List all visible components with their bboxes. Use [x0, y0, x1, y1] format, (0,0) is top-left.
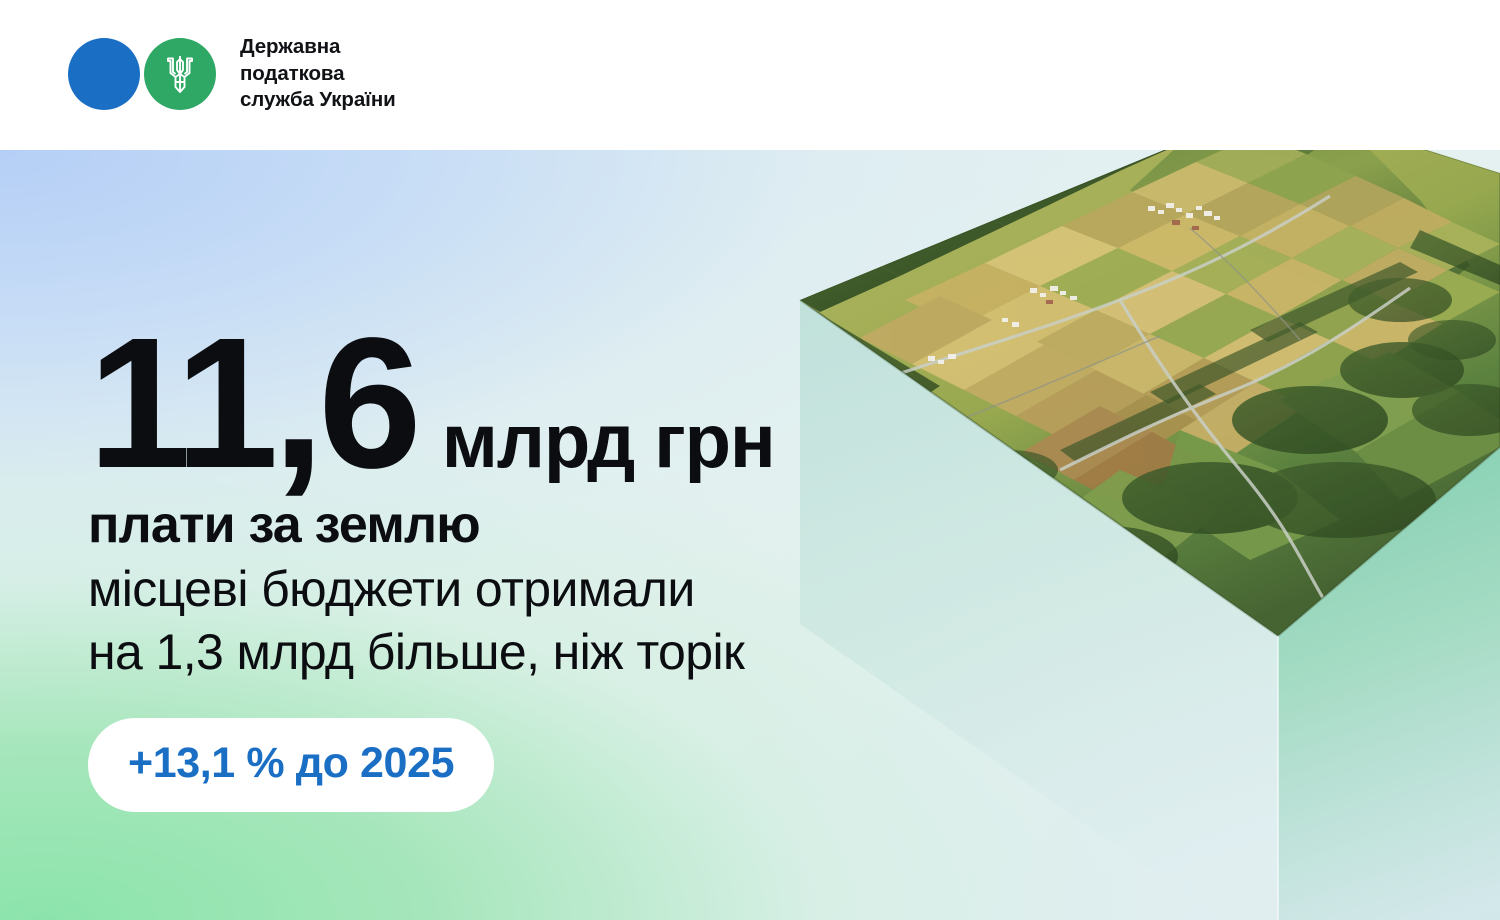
subtitle-strong: плати за землю — [88, 498, 968, 552]
ukraine-trident-emblem-icon — [163, 52, 197, 96]
growth-badge: +13,1 % до 2025 — [88, 718, 494, 812]
headline-row: 11,6 млрд грн — [88, 330, 968, 480]
main-copy: 11,6 млрд грн плати за землю місцеві бюд… — [88, 330, 968, 812]
logo-text-line-1: Державна — [240, 34, 396, 61]
header-bar: Державна податкова служба України — [0, 0, 1500, 150]
infographic-banner: Державна податкова служба України 11,6 м… — [0, 0, 1500, 920]
logo-text-line-2: податкова — [240, 61, 396, 88]
headline-unit: млрд грн — [442, 404, 775, 480]
subtitle-line-2: на 1,3 млрд більше, ніж торік — [88, 621, 968, 684]
logo-text: Державна податкова служба України — [240, 34, 396, 114]
subtitle-line-1: місцеві бюджети отримали — [88, 558, 968, 621]
green-circle-icon — [144, 38, 216, 110]
headline-amount: 11,6 — [88, 330, 416, 479]
blue-circle-icon — [68, 38, 140, 110]
logo-marks — [68, 38, 216, 110]
tax-service-logo[interactable]: Державна податкова служба України — [68, 34, 396, 114]
logo-text-line-3: служба України — [240, 87, 396, 114]
